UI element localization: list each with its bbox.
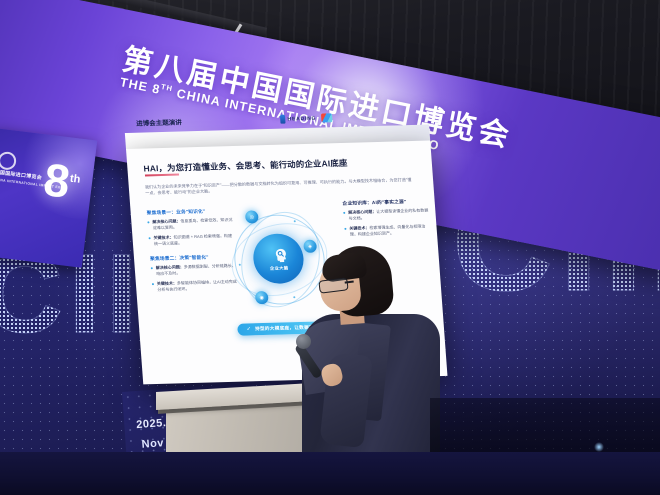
orbit-dot: [294, 220, 296, 222]
screen-header-title: 进博会主题演讲: [136, 116, 182, 127]
floor-light-accent: [594, 442, 604, 452]
bullet-lead: 关键技术：: [157, 280, 177, 286]
bullet-lead: 关键技术：: [153, 235, 173, 241]
edition-suffix: th: [69, 173, 81, 186]
brain-head-icon: [269, 246, 287, 263]
list-item: 关键技术：检索增强生成、向量化与权限治理，构建企业知识资产。: [344, 223, 431, 237]
conference-photo-scene: CIIE CIIE 2025. Nov 第八届中国国际进口博览会 THE 8TH…: [0, 0, 660, 495]
ciie-emblem-icon: [0, 151, 17, 171]
slide-lead-paragraph: 我们认为企业的未来竞争力在于"知识资产"——把分散的数据与文档转化为组织可复用、…: [145, 177, 416, 197]
orbit-dot: [239, 264, 241, 266]
heading-logo-mark: [280, 115, 286, 124]
bullet-lead: 关键技术：: [349, 225, 369, 231]
microphone-head: [296, 334, 311, 349]
brand-name: HEADING: [287, 115, 316, 122]
list-item: 关键技术：多智能体协同编排，让AI主动完成分析与执行闭环。: [152, 279, 239, 293]
diagram-core-label: 企业大脑: [270, 265, 289, 271]
list-item: 解决核心问题：信息孤岛、检索低效、知识沉淀难以复用。: [147, 217, 234, 231]
list-item: 解决核心问题：多源数据割裂、分析链路长、响应不及时。: [151, 263, 238, 277]
slide-title: HAI，为您打造懂业务、会思考、能行动的企业AI底座: [143, 157, 348, 175]
edition-digit: 8: [41, 153, 73, 208]
ciie-side-banner: 中国国际进口博览会 CHINA INTERNATIONAL IMPORT EXP…: [0, 128, 97, 268]
slide-left-column: 聚焦场景一：业务"知识化" 解决核心问题：信息孤岛、检索低效、知识沉淀难以复用。…: [147, 208, 239, 297]
bullet-lead: 解决核心问题：: [156, 264, 184, 270]
slide-right-column: 企业知识库：AI的"事实之源" 解决核心问题：让大模型读懂企业的私有数据与文档。…: [342, 199, 431, 242]
side-banner-edition-number: 8th: [41, 153, 83, 206]
heading-logo-icon: HEADING: [280, 113, 332, 123]
partner-logo-icon: [321, 113, 333, 122]
slide-title-underline: [145, 174, 179, 177]
list-item: 解决核心问题：让大模型读懂企业的私有数据与文档。: [343, 207, 430, 221]
left-column-heading: 聚焦场景一：业务"知识化": [147, 208, 233, 216]
floor: [0, 452, 660, 495]
bullet-lead: 解决核心问题：: [152, 218, 180, 224]
right-column-heading: 企业知识库：AI的"事实之源": [342, 199, 428, 207]
left-column2-heading: 聚焦场景二：决策"智能化": [150, 254, 236, 262]
check-icon: ✓: [246, 326, 251, 332]
bullet-lead: 解决核心问题：: [348, 209, 376, 215]
list-item: 关键技术：知识图谱 + RAG 检索增强，构建统一语义底座。: [148, 233, 235, 247]
orbit-dot: [293, 296, 295, 298]
